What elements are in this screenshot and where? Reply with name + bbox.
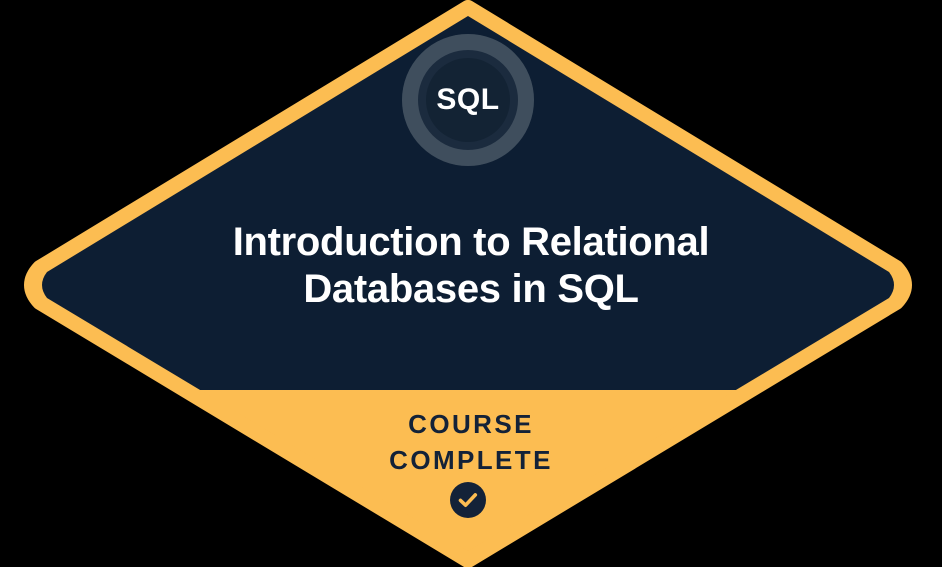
badge-shape-svg [0, 0, 942, 567]
badge-upper-field-group [0, 0, 942, 567]
badge-lower-field [0, 390, 942, 567]
course-completion-badge: SQL Introduction to Relational Databases… [0, 0, 942, 567]
sql-ring-inner-disc [426, 58, 510, 142]
